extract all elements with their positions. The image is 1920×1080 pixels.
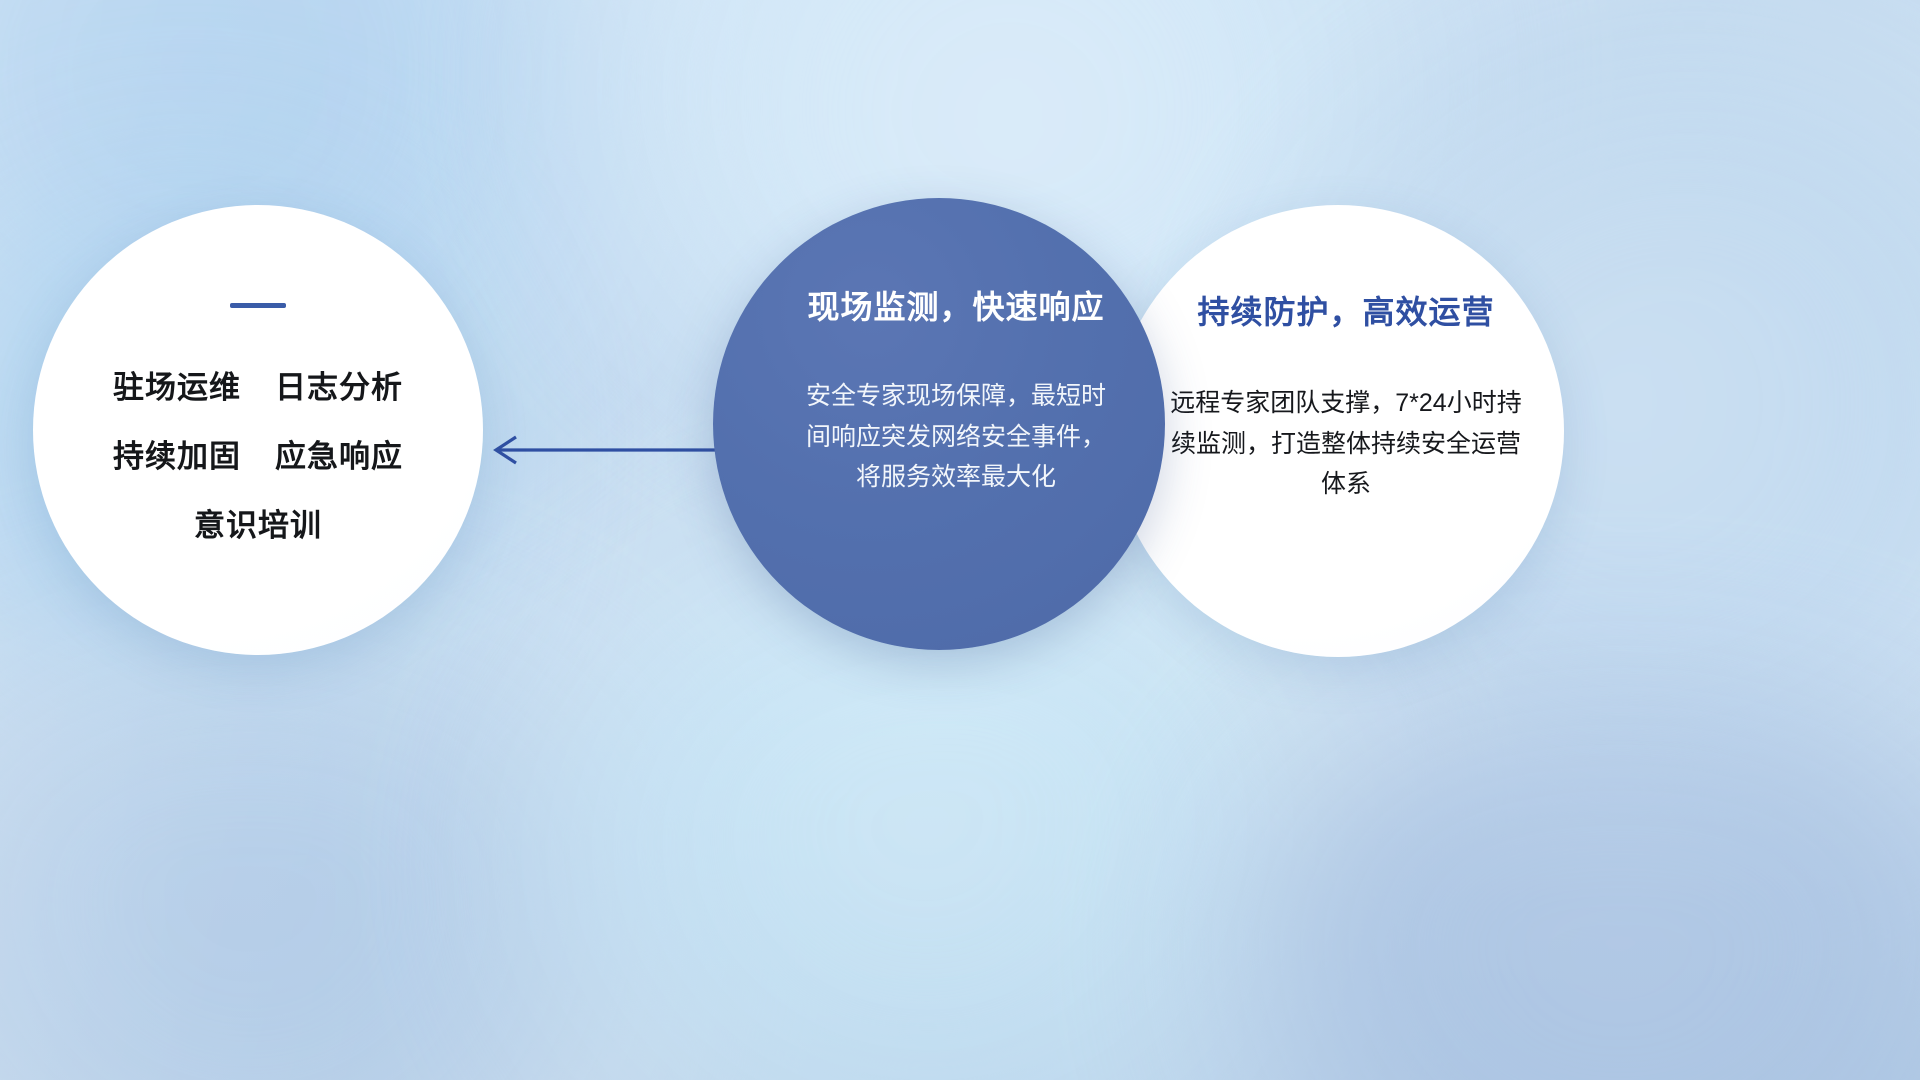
continuous-protection-title: 持续防护，高效运营 [1197, 287, 1494, 333]
capability-keyword: 日志分析 [275, 362, 403, 407]
capability-keyword: 意识培训 [194, 500, 322, 545]
onsite-monitoring-content: 现场监测，快速响应 安全专家现场保障，最短时间响应突发网络安全事件，将服务效率最… [713, 198, 1165, 650]
onsite-monitoring-circle: 现场监测，快速响应 安全专家现场保障，最短时间响应突发网络安全事件，将服务效率最… [713, 198, 1165, 650]
capability-keyword: 应急响应 [275, 431, 403, 476]
slide-canvas: 驻场运维 日志分析 持续加固 应急响应 意识培训 持续防护，高效运营 远程专家团… [0, 0, 1920, 1080]
capabilities-content: 驻场运维 日志分析 持续加固 应急响应 意识培训 [33, 205, 483, 655]
continuous-protection-body: 远程专家团队支撑，7*24小时持续监测，打造整体持续安全运营体系 [1168, 383, 1524, 505]
divider-dash [230, 303, 286, 308]
capability-keyword-list: 驻场运维 日志分析 持续加固 应急响应 意识培训 [113, 362, 403, 545]
continuous-protection-circle: 持续防护，高效运营 远程专家团队支撑，7*24小时持续监测，打造整体持续安全运营… [1112, 205, 1564, 657]
capability-keyword: 驻场运维 [113, 362, 241, 407]
capability-keyword: 持续加固 [113, 431, 241, 476]
capability-row: 意识培训 [194, 500, 322, 545]
continuous-protection-content: 持续防护，高效运营 远程专家团队支撑，7*24小时持续监测，打造整体持续安全运营… [1112, 205, 1564, 657]
onsite-monitoring-body: 安全专家现场保障，最短时间响应突发网络安全事件，将服务效率最大化 [806, 376, 1106, 498]
capability-row: 驻场运维 日志分析 [113, 362, 403, 407]
capability-row: 持续加固 应急响应 [113, 431, 403, 476]
onsite-monitoring-title: 现场监测，快速响应 [807, 282, 1104, 328]
capabilities-circle: 驻场运维 日志分析 持续加固 应急响应 意识培训 [33, 205, 483, 655]
